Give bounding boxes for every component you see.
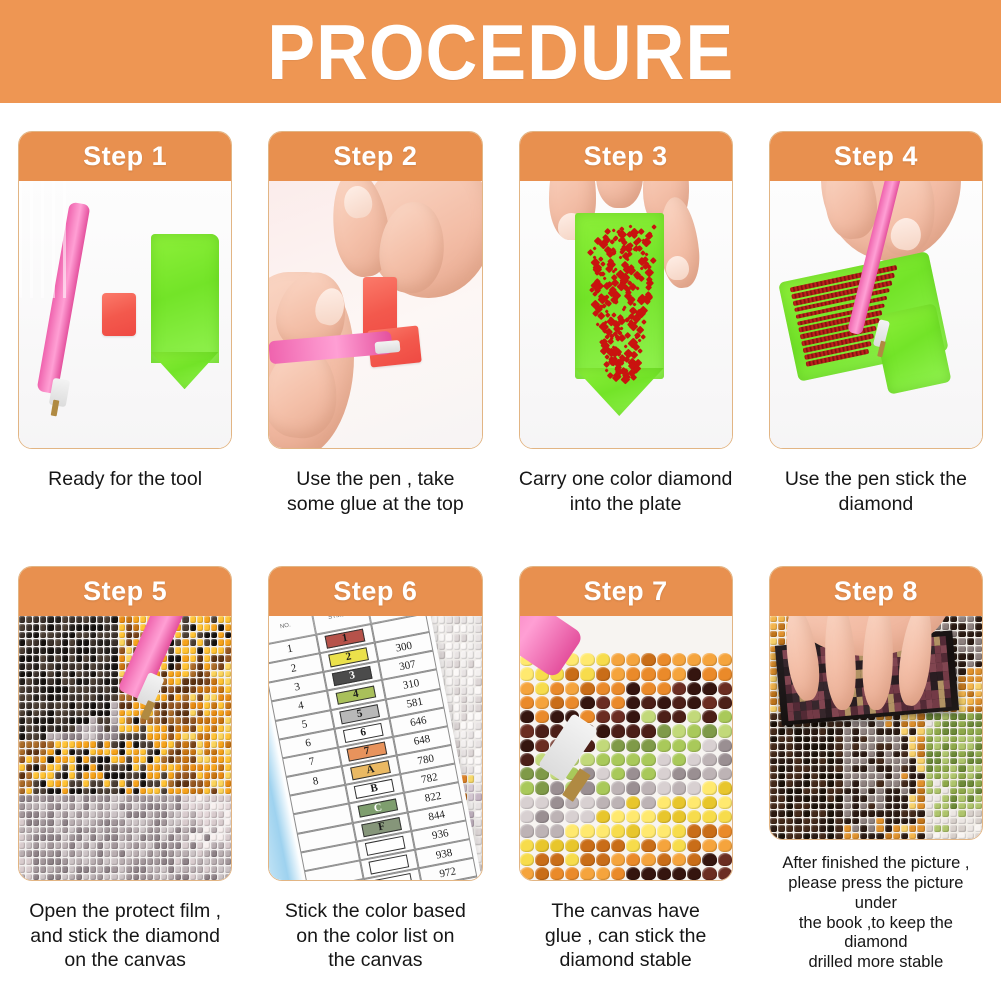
canvas-bead <box>97 616 103 623</box>
canvas-bead <box>770 773 777 779</box>
canvas-bead <box>90 866 96 873</box>
step-7-caption-line-3: diamond stable <box>519 948 733 973</box>
canvas-bead <box>175 632 181 639</box>
canvas-bead <box>778 728 785 734</box>
canvas-bead <box>211 733 217 740</box>
canvas-bead <box>225 788 231 795</box>
canvas-bead <box>76 772 82 779</box>
canvas-bead <box>827 788 834 794</box>
canvas-bead <box>225 702 231 709</box>
canvas-bead <box>641 753 655 766</box>
canvas-bead <box>803 758 810 764</box>
canvas-bead <box>626 739 640 752</box>
canvas-bead <box>778 743 785 749</box>
canvas-bead <box>190 827 196 834</box>
canvas-bead <box>55 624 61 631</box>
canvas-bead <box>475 722 481 730</box>
canvas-bead <box>175 686 181 693</box>
canvas-bead <box>119 850 125 857</box>
canvas-bead <box>83 772 89 779</box>
canvas-bead <box>835 728 842 734</box>
canvas-bead <box>90 756 96 763</box>
canvas-bead <box>950 795 957 801</box>
canvas-bead <box>475 625 481 633</box>
canvas-bead <box>182 702 188 709</box>
canvas-bead <box>778 631 785 637</box>
canvas-bead <box>827 825 834 831</box>
canvas-bead <box>475 828 481 836</box>
canvas-bead <box>182 663 188 670</box>
canvas-bead <box>190 671 196 678</box>
canvas-bead <box>111 639 117 646</box>
canvas-bead <box>104 624 110 631</box>
canvas-bead <box>975 713 982 719</box>
canvas-bead <box>161 710 167 717</box>
canvas-bead <box>33 655 39 662</box>
canvas-bead <box>175 827 181 834</box>
canvas-bead <box>90 624 96 631</box>
canvas-bead <box>475 634 481 642</box>
canvas-bead <box>19 733 25 740</box>
canvas-bead <box>844 721 851 727</box>
canvas-bead <box>454 634 460 642</box>
canvas-bead <box>55 772 61 779</box>
canvas-bead <box>111 671 117 678</box>
canvas-bead <box>19 834 25 841</box>
canvas-bead <box>40 764 46 771</box>
canvas-bead <box>794 758 801 764</box>
canvas-bead <box>69 788 75 795</box>
canvas-bead <box>786 795 793 801</box>
canvas-bead <box>204 624 210 631</box>
canvas-bead <box>204 671 210 678</box>
canvas-bead <box>876 758 883 764</box>
canvas-bead <box>90 803 96 810</box>
canvas-bead <box>702 781 716 794</box>
canvas-bead <box>154 756 160 763</box>
canvas-bead <box>687 653 701 666</box>
canvas-bead <box>126 866 132 873</box>
canvas-bead <box>626 724 640 737</box>
canvas-bead <box>182 647 188 654</box>
canvas-bead <box>175 717 181 724</box>
canvas-bead <box>975 795 982 801</box>
canvas-bead <box>126 741 132 748</box>
canvas-bead <box>119 772 125 779</box>
canvas-bead <box>147 780 153 787</box>
canvas-bead <box>967 646 974 652</box>
canvas-bead <box>461 713 467 721</box>
canvas-bead <box>211 741 217 748</box>
canvas-bead <box>182 733 188 740</box>
canvas-bead <box>550 824 564 837</box>
canvas-bead <box>175 795 181 802</box>
canvas-bead <box>868 751 875 757</box>
canvas-bead <box>119 827 125 834</box>
canvas-bead <box>958 683 965 689</box>
canvas-bead <box>218 686 224 693</box>
diamond-drill <box>630 374 637 381</box>
canvas-bead <box>218 858 224 865</box>
canvas-bead <box>778 616 785 622</box>
canvas-bead <box>168 663 174 670</box>
canvas-bead <box>62 678 68 685</box>
canvas-bead <box>55 663 61 670</box>
canvas-bead <box>97 663 103 670</box>
canvas-bead <box>868 788 875 794</box>
canvas-bead <box>76 671 82 678</box>
canvas-bead <box>97 827 103 834</box>
canvas-bead <box>47 741 53 748</box>
canvas-bead <box>33 811 39 818</box>
canvas-bead <box>876 795 883 801</box>
step-4-header: Step 4 <box>770 132 982 181</box>
canvas-bead <box>147 756 153 763</box>
canvas-bead <box>126 788 132 795</box>
canvas-bead <box>641 867 655 880</box>
canvas-bead <box>154 850 160 857</box>
canvas-bead <box>126 632 132 639</box>
canvas-bead <box>893 833 900 839</box>
canvas-bead <box>827 728 834 734</box>
canvas-bead <box>47 827 53 834</box>
canvas-bead <box>175 725 181 732</box>
canvas-bead <box>468 740 474 748</box>
canvas-bead <box>975 646 982 652</box>
canvas-bead <box>140 616 146 623</box>
canvas-bead <box>942 788 949 794</box>
canvas-bead <box>672 867 686 880</box>
canvas-bead <box>26 639 32 646</box>
canvas-bead <box>958 638 965 644</box>
canvas-bead <box>40 725 46 732</box>
canvas-bead <box>104 811 110 818</box>
canvas-bead <box>26 663 32 670</box>
canvas-bead <box>190 834 196 841</box>
canvas-bead <box>83 624 89 631</box>
canvas-bead <box>454 625 460 633</box>
canvas-bead <box>126 858 132 865</box>
canvas-bead <box>868 780 875 786</box>
canvas-bead <box>770 698 777 704</box>
canvas-bead <box>852 773 859 779</box>
canvas-bead <box>975 751 982 757</box>
canvas-bead <box>204 663 210 670</box>
canvas-bead <box>140 858 146 865</box>
canvas-bead <box>190 717 196 724</box>
canvas-bead <box>975 788 982 794</box>
canvas-bead <box>225 827 231 834</box>
canvas-bead <box>461 634 467 642</box>
canvas-bead <box>835 765 842 771</box>
canvas-bead <box>909 751 916 757</box>
canvas-bead <box>76 749 82 756</box>
canvas-bead <box>133 624 139 631</box>
canvas-bead <box>62 624 68 631</box>
canvas-bead <box>803 765 810 771</box>
canvas-bead <box>967 810 974 816</box>
canvas-bead <box>197 717 203 724</box>
canvas-bead <box>97 733 103 740</box>
canvas-bead <box>580 839 594 852</box>
canvas-bead <box>811 743 818 749</box>
canvas-bead <box>432 616 438 624</box>
canvas-bead <box>860 833 867 839</box>
canvas-bead <box>926 721 933 727</box>
canvas-bead <box>786 758 793 764</box>
canvas-bead <box>47 686 53 693</box>
canvas-bead <box>19 717 25 724</box>
canvas-bead <box>140 811 146 818</box>
canvas-bead <box>565 824 579 837</box>
canvas-bead <box>950 818 957 824</box>
canvas-bead <box>119 655 125 662</box>
canvas-bead <box>40 671 46 678</box>
canvas-bead <box>778 758 785 764</box>
canvas-bead <box>69 811 75 818</box>
canvas-bead <box>26 827 32 834</box>
canvas-bead <box>175 866 181 873</box>
canvas-bead <box>975 833 982 839</box>
canvas-bead <box>47 858 53 865</box>
step-6-header: Step 6 <box>269 567 481 616</box>
steps-grid: Step 1 R <box>0 103 1001 973</box>
canvas-bead <box>860 751 867 757</box>
canvas-bead <box>926 780 933 786</box>
canvas-bead <box>19 632 25 639</box>
book-cover-pixel <box>945 698 952 707</box>
canvas-bead <box>26 819 32 826</box>
canvas-bead <box>83 811 89 818</box>
canvas-bead <box>885 758 892 764</box>
canvas-bead <box>811 788 818 794</box>
canvas-bead <box>885 780 892 786</box>
canvas-bead <box>33 663 39 670</box>
canvas-bead <box>204 850 210 857</box>
canvas-bead <box>33 725 39 732</box>
canvas-bead <box>811 833 818 839</box>
canvas-bead <box>204 632 210 639</box>
step-7-header: Step 7 <box>520 567 732 616</box>
canvas-bead <box>893 795 900 801</box>
canvas-bead <box>19 686 25 693</box>
canvas-bead <box>33 717 39 724</box>
canvas-bead <box>687 824 701 837</box>
canvas-bead <box>190 741 196 748</box>
canvas-bead <box>190 756 196 763</box>
canvas-bead <box>468 784 474 792</box>
canvas-bead <box>958 736 965 742</box>
canvas-bead <box>454 660 460 668</box>
canvas-bead <box>111 702 117 709</box>
canvas-bead <box>154 858 160 865</box>
canvas-bead <box>168 733 174 740</box>
canvas-bead <box>967 728 974 734</box>
canvas-bead <box>161 834 167 841</box>
canvas-bead <box>26 655 32 662</box>
canvas-bead <box>104 639 110 646</box>
canvas-bead <box>211 811 217 818</box>
canvas-bead <box>26 756 32 763</box>
canvas-bead <box>901 721 908 727</box>
canvas-bead <box>197 624 203 631</box>
canvas-bead <box>893 765 900 771</box>
canvas-bead <box>147 827 153 834</box>
canvas-bead <box>934 818 941 824</box>
diamond-drill <box>645 252 649 256</box>
canvas-bead <box>175 647 181 654</box>
canvas-bead <box>893 758 900 764</box>
canvas-bead <box>975 653 982 659</box>
canvas-bead <box>154 733 160 740</box>
canvas-bead <box>140 834 146 841</box>
canvas-bead <box>211 717 217 724</box>
canvas-bead <box>803 810 810 816</box>
canvas-bead <box>975 803 982 809</box>
canvas-bead <box>40 827 46 834</box>
canvas-bead <box>687 667 701 680</box>
canvas-bead <box>83 834 89 841</box>
canvas-bead <box>468 802 474 810</box>
canvas-bead <box>182 788 188 795</box>
canvas-bead <box>55 632 61 639</box>
canvas-bead <box>926 728 933 734</box>
canvas-bead <box>175 749 181 756</box>
canvas-bead <box>90 749 96 756</box>
canvas-bead <box>917 825 924 831</box>
canvas-bead <box>218 788 224 795</box>
canvas-bead <box>975 638 982 644</box>
canvas-bead <box>611 724 625 737</box>
canvas-bead <box>942 721 949 727</box>
canvas-bead <box>942 810 949 816</box>
canvas-bead <box>934 803 941 809</box>
canvas-bead <box>702 839 716 852</box>
canvas-bead <box>596 667 610 680</box>
canvas-bead <box>934 713 941 719</box>
canvas-bead <box>950 825 957 831</box>
canvas-bead <box>161 858 167 865</box>
canvas-bead <box>33 866 39 873</box>
canvas-bead <box>111 694 117 701</box>
canvas-bead <box>770 638 777 644</box>
canvas-bead <box>76 811 82 818</box>
canvas-bead <box>97 717 103 724</box>
canvas-bead <box>702 867 716 880</box>
canvas-bead <box>47 764 53 771</box>
canvas-bead <box>119 639 125 646</box>
canvas-bead <box>168 780 174 787</box>
canvas-bead <box>468 678 474 686</box>
canvas-bead <box>778 803 785 809</box>
canvas-bead <box>161 694 167 701</box>
canvas-bead <box>770 825 777 831</box>
canvas-bead <box>950 736 957 742</box>
canvas-bead <box>641 682 655 695</box>
canvas-bead <box>69 678 75 685</box>
canvas-bead <box>454 651 460 659</box>
canvas-bead <box>626 753 640 766</box>
canvas-bead <box>803 773 810 779</box>
canvas-bead <box>26 725 32 732</box>
canvas-bead <box>475 687 481 695</box>
canvas-bead <box>175 639 181 646</box>
canvas-bead <box>154 834 160 841</box>
canvas-bead <box>69 764 75 771</box>
canvas-bead <box>97 710 103 717</box>
canvas-bead <box>967 623 974 629</box>
canvas-bead <box>33 850 39 857</box>
canvas-bead <box>218 803 224 810</box>
canvas-bead <box>97 834 103 841</box>
canvas-bead <box>468 731 474 739</box>
canvas-bead <box>687 710 701 723</box>
canvas-bead <box>909 825 916 831</box>
canvas-bead <box>175 788 181 795</box>
canvas-bead <box>26 858 32 865</box>
canvas-bead <box>175 772 181 779</box>
canvas-bead <box>33 733 39 740</box>
canvas-bead <box>909 758 916 764</box>
canvas-bead <box>672 839 686 852</box>
canvas-bead <box>26 671 32 678</box>
canvas-bead <box>225 772 231 779</box>
canvas-bead <box>461 643 467 651</box>
canvas-bead <box>26 647 32 654</box>
canvas-bead <box>844 810 851 816</box>
canvas-bead <box>958 631 965 637</box>
canvas-bead <box>811 818 818 824</box>
canvas-bead <box>468 651 474 659</box>
canvas-bead <box>62 749 68 756</box>
canvas-bead <box>147 858 153 865</box>
canvas-bead <box>475 660 481 668</box>
canvas-bead <box>803 833 810 839</box>
canvas-bead <box>26 811 32 818</box>
canvas-bead <box>852 780 859 786</box>
canvas-bead <box>168 694 174 701</box>
canvas-bead <box>475 696 481 704</box>
canvas-bead <box>611 810 625 823</box>
canvas-bead <box>917 795 924 801</box>
canvas-bead <box>90 655 96 662</box>
canvas-bead <box>718 739 732 752</box>
canvas-bead <box>860 825 867 831</box>
canvas-bead <box>161 764 167 771</box>
canvas-bead <box>47 842 53 849</box>
canvas-bead <box>119 803 125 810</box>
canvas-bead <box>161 842 167 849</box>
canvas-bead <box>819 743 826 749</box>
canvas-bead <box>852 758 859 764</box>
step-7-caption: The canvas have glue , can stick the dia… <box>519 899 733 973</box>
canvas-bead <box>69 624 75 631</box>
canvas-bead <box>83 850 89 857</box>
canvas-bead <box>225 725 231 732</box>
canvas-bead <box>133 866 139 873</box>
canvas-bead <box>133 616 139 623</box>
canvas-bead <box>204 764 210 771</box>
canvas-bead <box>190 702 196 709</box>
canvas-bead <box>126 874 132 881</box>
canvas-bead <box>958 818 965 824</box>
canvas-bead <box>468 722 474 730</box>
canvas-bead <box>26 678 32 685</box>
canvas-bead <box>893 728 900 734</box>
canvas-bead <box>475 775 481 783</box>
page-banner: PROCEDURE <box>0 0 1001 103</box>
canvas-bead <box>550 839 564 852</box>
